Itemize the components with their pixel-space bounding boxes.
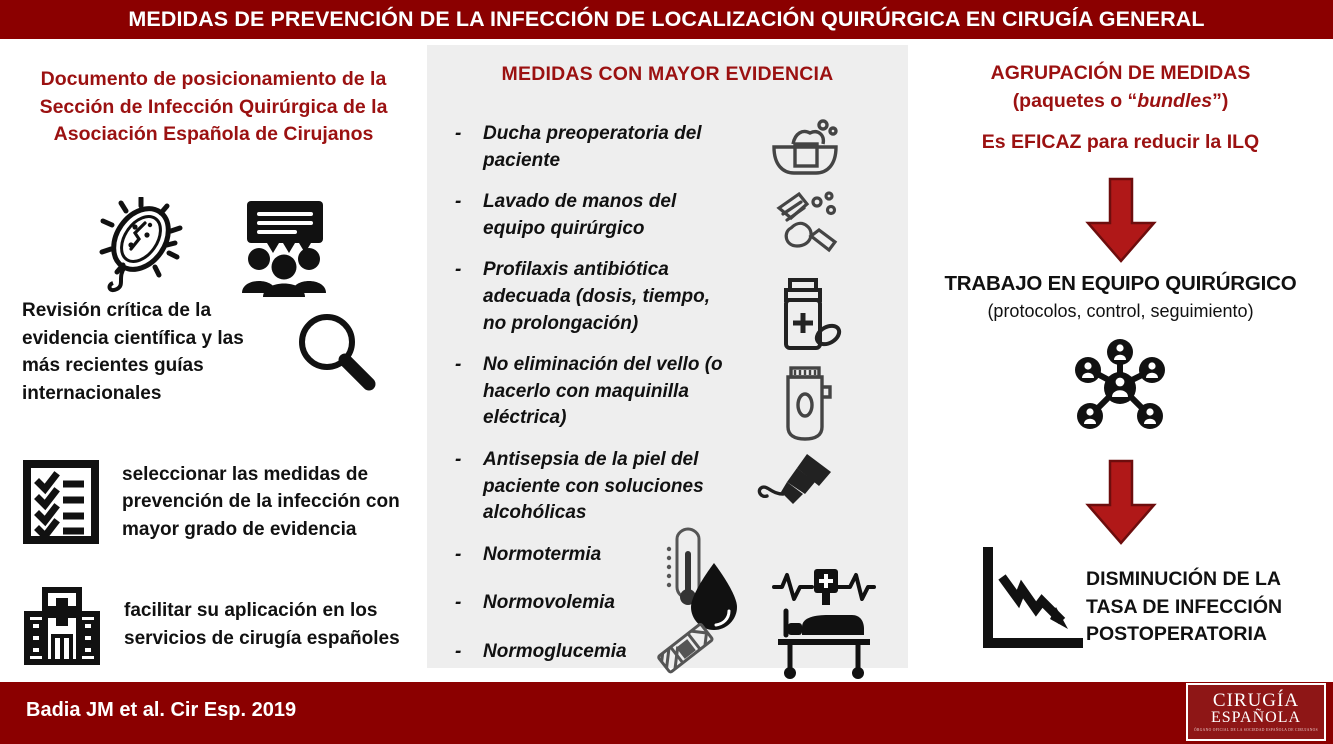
bullet-dash: - <box>451 542 483 569</box>
announcement-group-icon <box>233 197 333 297</box>
antiseptic-brush-icon <box>757 450 837 526</box>
list-item-label: Profilaxis antibiótica adecuada (dosis, … <box>483 257 738 337</box>
bullet-dash: - <box>451 352 483 432</box>
list-item-label: Lavado de manos del equipo quirúrgico <box>483 189 713 242</box>
bullet-dash: - <box>451 257 483 337</box>
wash-basin-icon <box>769 117 841 177</box>
list-item: - Normoglucemia <box>451 639 791 666</box>
right-column: AGRUPACIÓN DE MEDIDAS (paquetes o “bundl… <box>908 39 1333 682</box>
medicine-bottle-icon <box>772 277 842 353</box>
down-arrow-icon <box>1084 459 1158 545</box>
list-item-label: Ducha preoperatoria del paciente <box>483 121 733 174</box>
hand-washing-icon <box>771 188 841 258</box>
left-column: Documento de posicionamiento de la Secci… <box>0 39 427 682</box>
right-column-title: AGRUPACIÓN DE MEDIDAS (paquetes o “bundl… <box>908 59 1333 116</box>
list-item: - Lavado de manos del equipo quirúrgico <box>451 189 791 242</box>
logo-line-2: ESPAÑOLA <box>1211 710 1301 727</box>
hospital-icon <box>22 584 102 666</box>
checklist-icon <box>22 459 100 545</box>
left-block-evidence-label: Revisión crítica de la evidencia científ… <box>22 297 287 407</box>
glucose-strip-icon <box>655 618 717 680</box>
header-bar: MEDIDAS DE PREVENCIÓN DE LA INFECCIÓN DE… <box>0 0 1333 39</box>
electric-clipper-icon <box>779 365 835 443</box>
left-block-facilitate-label: facilitar su aplicación en los servicios… <box>124 597 419 652</box>
bullet-dash: - <box>451 121 483 174</box>
right-column-subtitle: Es EFICAZ para reducir la ILQ <box>908 131 1333 154</box>
middle-column-title: MEDIDAS CON MAYOR EVIDENCIA <box>427 63 908 86</box>
bullet-dash: - <box>451 639 483 666</box>
declining-chart-icon <box>980 547 1084 651</box>
bullet-dash: - <box>451 447 483 527</box>
list-item-label: Antisepsia de la piel del paciente con s… <box>483 447 733 527</box>
left-block-evidence: Revisión crítica de la evidencia científ… <box>22 297 412 407</box>
left-block-select-label: seleccionar las medidas de prevención de… <box>122 461 422 544</box>
logo-line-3: ÓRGANO OFICIAL DE LA SOCIEDAD ESPAÑOLA D… <box>1194 729 1318 733</box>
bundles-suffix: ”) <box>1212 90 1228 112</box>
list-item-label: Normotermia <box>483 542 601 569</box>
bundles-prefix: (paquetes o “ <box>1013 90 1138 112</box>
infographic-page: MEDIDAS DE PREVENCIÓN DE LA INFECCIÓN DE… <box>0 0 1333 744</box>
page-title: MEDIDAS DE PREVENCIÓN DE LA INFECCIÓN DE… <box>128 7 1204 32</box>
down-arrow-icon <box>1084 177 1158 263</box>
journal-logo: CIRUGÍA ESPAÑOLA ÓRGANO OFICIAL DE LA SO… <box>1186 683 1326 741</box>
left-column-title: Documento de posicionamiento de la Secci… <box>16 66 411 149</box>
list-item-label: Normovolemia <box>483 590 615 617</box>
bullet-dash: - <box>451 189 483 242</box>
right-column-title-line1: AGRUPACIÓN DE MEDIDAS <box>908 59 1333 87</box>
left-column-icon-row <box>95 192 335 302</box>
bundles-emphasis: bundles <box>1137 90 1212 112</box>
list-item: - No eliminación del vello (o hacerlo co… <box>451 352 791 432</box>
list-item: - Ducha preoperatoria del paciente <box>451 121 791 174</box>
middle-column: MEDIDAS CON MAYOR EVIDENCIA - Ducha preo… <box>427 45 908 668</box>
right-column-title-line2: (paquetes o “bundles”) <box>908 87 1333 115</box>
list-item: - Antisepsia de la piel del paciente con… <box>451 447 791 527</box>
right-column-heading2-sub: (protocolos, control, seguimiento) <box>908 301 1333 322</box>
bacteria-icon <box>95 197 187 297</box>
list-item: - Profilaxis antibiótica adecuada (dosis… <box>451 257 791 337</box>
left-block-facilitate: facilitar su aplicación en los servicios… <box>22 584 422 666</box>
citation-text: Badia JM et al. Cir Esp. 2019 <box>26 699 296 722</box>
left-block-select: seleccionar las medidas de prevención de… <box>22 459 422 545</box>
right-column-heading2: TRABAJO EN EQUIPO QUIRÚRGICO <box>908 272 1333 296</box>
bullet-dash: - <box>451 590 483 617</box>
list-item-label: Normoglucemia <box>483 639 627 666</box>
footer-bar: Badia JM et al. Cir Esp. 2019 <box>0 682 1333 744</box>
hospital-bed-monitor-icon <box>772 565 876 681</box>
logo-line-1: CIRUGÍA <box>1213 691 1299 710</box>
list-item-label: No eliminación del vello (o hacerlo con … <box>483 352 743 432</box>
magnifier-icon <box>291 308 379 396</box>
right-column-heading3: DISMINUCIÓN DE LA TASA DE INFECCIÓN POST… <box>1086 566 1316 649</box>
team-network-icon <box>1068 336 1172 440</box>
